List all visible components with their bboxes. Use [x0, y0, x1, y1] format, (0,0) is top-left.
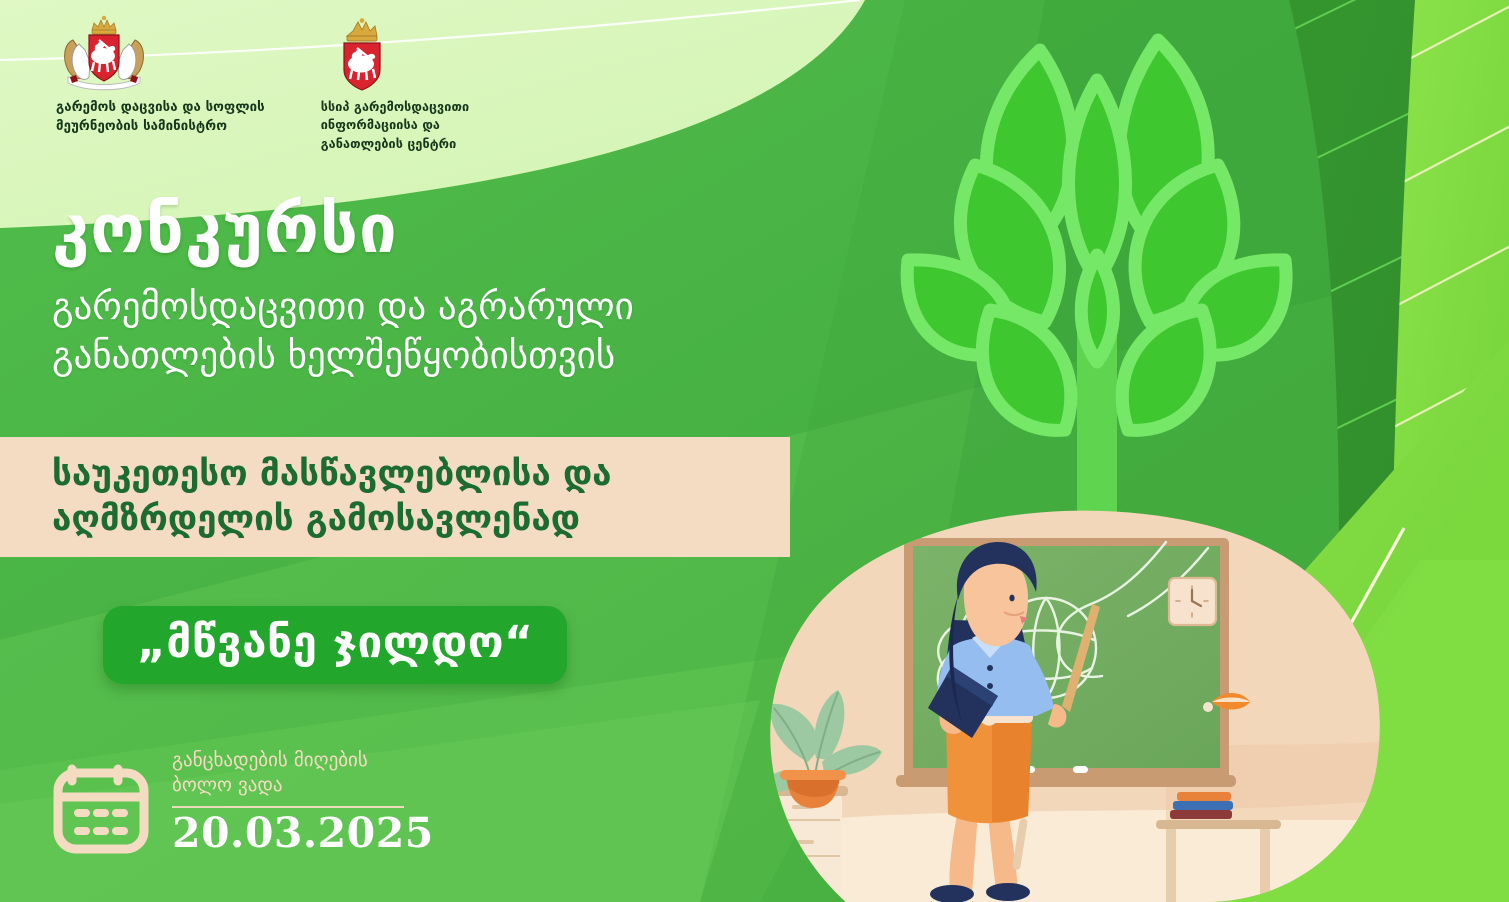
georgia-coat-of-arms-icon: [56, 14, 152, 92]
poster-root: გარემოს დაცვისა და სოფლის მეურნეობის სამ…: [0, 0, 1509, 902]
header-emblems: გარემოს დაცვისა და სოფლის მეურნეობის სამ…: [0, 0, 640, 150]
highlight-banner-text: საუკეთესო მასწავლებლისა და აღმზრდელის გა…: [52, 452, 790, 542]
calendar-icon: [52, 751, 150, 855]
crown-icon: [347, 18, 377, 41]
book-stack: [1170, 792, 1233, 819]
org-ministry-name: გარემოს დაცვისა და სოფლის მეურნეობის სამ…: [56, 98, 265, 136]
deadline-block: განცხადების მიღების ბოლო ვადა 20.03.2025: [52, 748, 434, 857]
headline-block: კონკურსი გარემოსდაცვითი და აგრარული განა…: [52, 196, 832, 381]
award-name-pill: „მწვანე ჯილდო“: [103, 606, 567, 684]
award-name-text: „მწვანე ჯილდო“: [137, 621, 533, 665]
org-center-name: სსიპ გარემოსდაცვითი ინფორმაციისა და განა…: [321, 98, 469, 153]
org-center: სსიპ გარემოსდაცვითი ინფორმაციისა და განა…: [321, 18, 469, 153]
page-subtitle: გარემოსდაცვითი და აგრარული განათლების ხე…: [52, 283, 832, 381]
deadline-label: განცხადების მიღების ბოლო ვადა: [172, 748, 434, 798]
georgia-shield-crown-icon: [331, 18, 393, 92]
classroom-teacher-illustration: [736, 500, 1392, 902]
leaf-tree-icon: [880, 10, 1310, 530]
org-ministry: გარემოს დაცვისა და სოფლის მეურნეობის სამ…: [56, 14, 265, 136]
page-title: კონკურსი: [52, 196, 832, 263]
highlight-banner: საუკეთესო მასწავლებლისა და აღმზრდელის გა…: [0, 437, 790, 557]
deadline-date: 20.03.2025: [172, 811, 434, 857]
crown-icon: [92, 16, 116, 34]
wall-clock: [1169, 578, 1216, 625]
deadline-divider: [172, 806, 404, 808]
classroom-scene: [736, 500, 1392, 902]
deadline-text-group: განცხადების მიღების ბოლო ვადა 20.03.2025: [172, 748, 434, 857]
leaf-tree-logo: [880, 10, 1310, 530]
